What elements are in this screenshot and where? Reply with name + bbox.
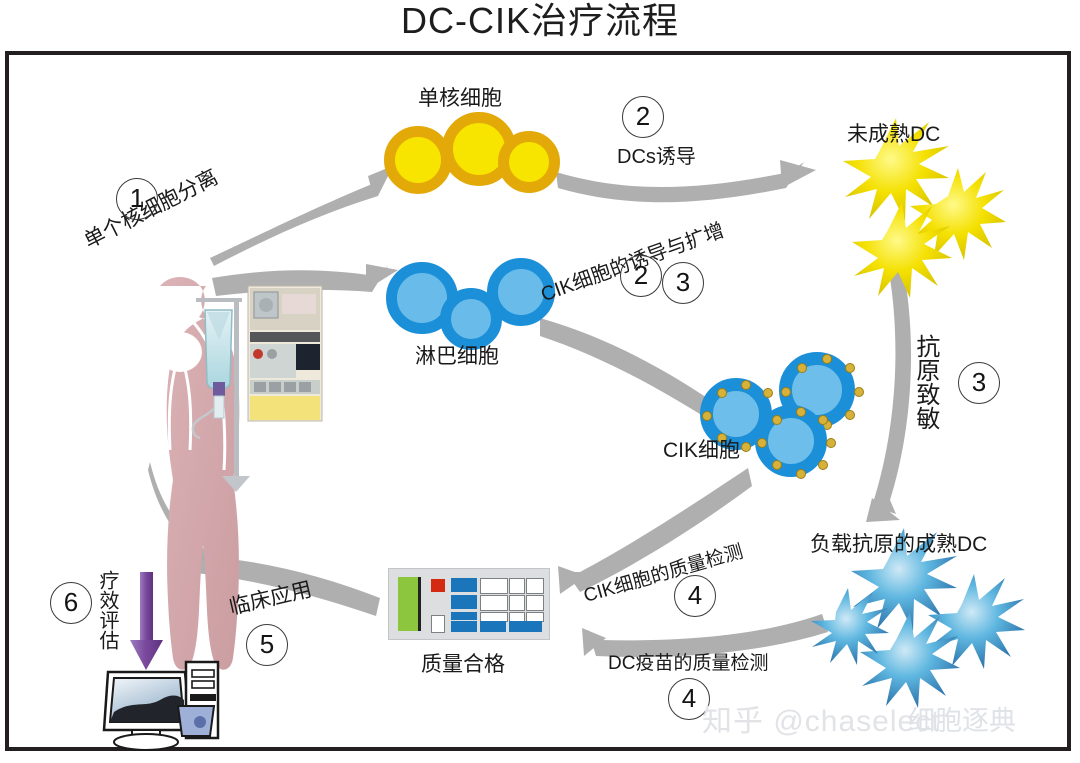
step-number-2b: 2 — [620, 255, 662, 297]
qc-red-indicator — [431, 579, 445, 592]
cik-cell-3 — [755, 405, 827, 477]
label-mature-dc: 负载抗原的成熟DC — [810, 528, 987, 558]
step-number-2: 2 — [622, 96, 664, 138]
step-number-1: 1 — [116, 178, 158, 220]
monocyte-cell-1 — [384, 126, 452, 194]
label-lymphocyte: 淋巴细胞 — [415, 340, 499, 370]
label-antigen-sensitization: 抗原致敏 — [912, 334, 938, 430]
step-number-4: 4 — [674, 575, 716, 617]
page-title: DC-CIK治疗流程 — [0, 0, 1080, 46]
qc-green-bar — [398, 577, 421, 631]
label-cik-cell: CIK细胞 — [663, 434, 740, 464]
step-number-5: 5 — [246, 624, 288, 666]
label-immature-dc: 未成熟DC — [847, 118, 940, 148]
diagram-canvas: DC-CIK治疗流程 — [0, 0, 1080, 763]
step-number-3b: 3 — [958, 362, 1000, 404]
label-dc-vaccine-quality-check: DC疫苗的质量检测 — [608, 648, 768, 675]
monocyte-cell-3 — [498, 131, 560, 193]
label-monocyte: 单核细胞 — [418, 82, 502, 112]
qc-white-slot — [431, 615, 445, 633]
watermark-secondary: 细胞逐典 — [908, 699, 1016, 738]
step-number-3: 3 — [662, 262, 704, 304]
step-number-6: 6 — [50, 582, 92, 624]
watermark-primary: 知乎 @chaselect — [702, 696, 941, 740]
label-efficacy-evaluation: 疗效评估 — [96, 570, 117, 650]
label-quality-pass: 质量合格 — [421, 648, 505, 678]
label-dcs-induction: DCs诱导 — [617, 140, 696, 169]
quality-control-device — [388, 568, 550, 640]
